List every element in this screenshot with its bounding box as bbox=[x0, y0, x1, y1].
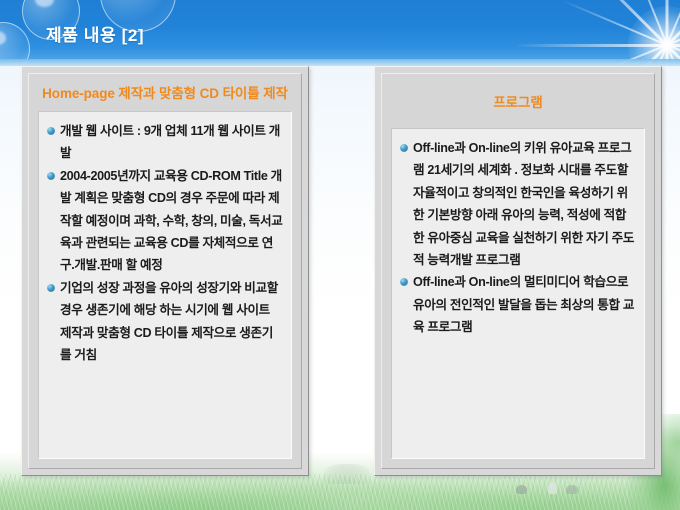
list-item: 개발 웹 사이트 : 9개 업체 11개 웹 사이트 개발 bbox=[44, 120, 283, 165]
bullet-dot-icon bbox=[47, 127, 55, 135]
list-item-text: Off-line과 On-line의 키위 유아교육 프로그램 21세기의 세계… bbox=[413, 141, 634, 267]
content-area: Home-page 제작과 맞춤형 CD 타이틀 제작 개발 웹 사이트 : 9… bbox=[0, 0, 680, 510]
panel-homepage-cd: Home-page 제작과 맞춤형 CD 타이틀 제작 개발 웹 사이트 : 9… bbox=[21, 66, 309, 476]
list-item-text: Off-line과 On-line의 멀티미디어 학습으로 유아의 전인적인 발… bbox=[413, 275, 634, 334]
list-item: 기업의 성장 과정을 유아의 성장기와 비교할 경우 생존기에 해당 하는 시기… bbox=[44, 277, 283, 367]
panel-heading-program: 프로그램 bbox=[391, 85, 645, 119]
list-item: Off-line과 On-line의 키위 유아교육 프로그램 21세기의 세계… bbox=[397, 137, 636, 271]
bullet-list-homepage-cd: 개발 웹 사이트 : 9개 업체 11개 웹 사이트 개발 2004-2005년… bbox=[44, 120, 283, 366]
bullet-dot-icon bbox=[400, 144, 408, 152]
panel-inner-frame: Home-page 제작과 맞춤형 CD 타이틀 제작 개발 웹 사이트 : 9… bbox=[28, 73, 302, 469]
list-item-text: 2004-2005년까지 교육용 CD-ROM Title 개발 계획은 맞춤형… bbox=[60, 169, 283, 273]
list-item-text: 개발 웹 사이트 : 9개 업체 11개 웹 사이트 개발 bbox=[60, 124, 280, 160]
panel-inner-frame: 프로그램 Off-line과 On-line의 키위 유아교육 프로그램 21세… bbox=[381, 73, 655, 469]
list-item: 2004-2005년까지 교육용 CD-ROM Title 개발 계획은 맞춤형… bbox=[44, 165, 283, 277]
bullet-dot-icon bbox=[47, 172, 55, 180]
list-item: Off-line과 On-line의 멀티미디어 학습으로 유아의 전인적인 발… bbox=[397, 271, 636, 338]
list-item-text: 기업의 성장 과정을 유아의 성장기와 비교할 경우 생존기에 해당 하는 시기… bbox=[60, 281, 278, 362]
panel-heading-homepage-cd: Home-page 제작과 맞춤형 CD 타이틀 제작 bbox=[38, 85, 292, 102]
panel-body-program: Off-line과 On-line의 키위 유아교육 프로그램 21세기의 세계… bbox=[391, 128, 645, 459]
panel-program: 프로그램 Off-line과 On-line의 키위 유아교육 프로그램 21세… bbox=[374, 66, 662, 476]
bullet-dot-icon bbox=[400, 278, 408, 286]
bullet-dot-icon bbox=[47, 284, 55, 292]
panel-body-homepage-cd: 개발 웹 사이트 : 9개 업체 11개 웹 사이트 개발 2004-2005년… bbox=[38, 111, 292, 459]
bullet-list-program: Off-line과 On-line의 키위 유아교육 프로그램 21세기의 세계… bbox=[397, 137, 636, 339]
presentation-slide: 제품 내용 [2] Home-page 제작과 맞춤형 CD 타이틀 제작 개발… bbox=[0, 0, 680, 510]
